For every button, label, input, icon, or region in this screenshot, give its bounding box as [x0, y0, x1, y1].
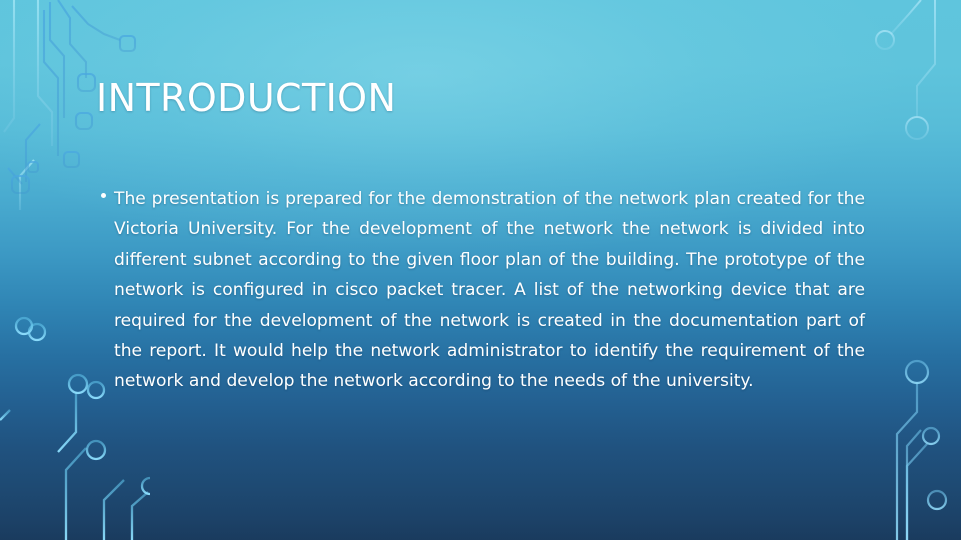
presentation-slide: INTRODUCTION The presentation is prepare… — [0, 0, 961, 540]
trace-group-bottom-right — [881, 382, 937, 540]
node-circle-group-top-right — [876, 31, 928, 139]
bullet-point-icon — [101, 193, 106, 198]
trace-group-top-right — [891, 0, 943, 540]
slide-body: The presentation is prepared for the dem… — [100, 184, 865, 397]
slide-title: INTRODUCTION — [96, 76, 396, 120]
bullet-list-item: The presentation is prepared for the dem… — [100, 184, 865, 397]
circuit-trace-right-decoration — [851, 0, 961, 540]
trace-group-top-left — [4, 0, 52, 210]
node-circle-group-bottom-right — [906, 361, 946, 509]
body-paragraph: The presentation is prepared for the dem… — [114, 184, 865, 397]
